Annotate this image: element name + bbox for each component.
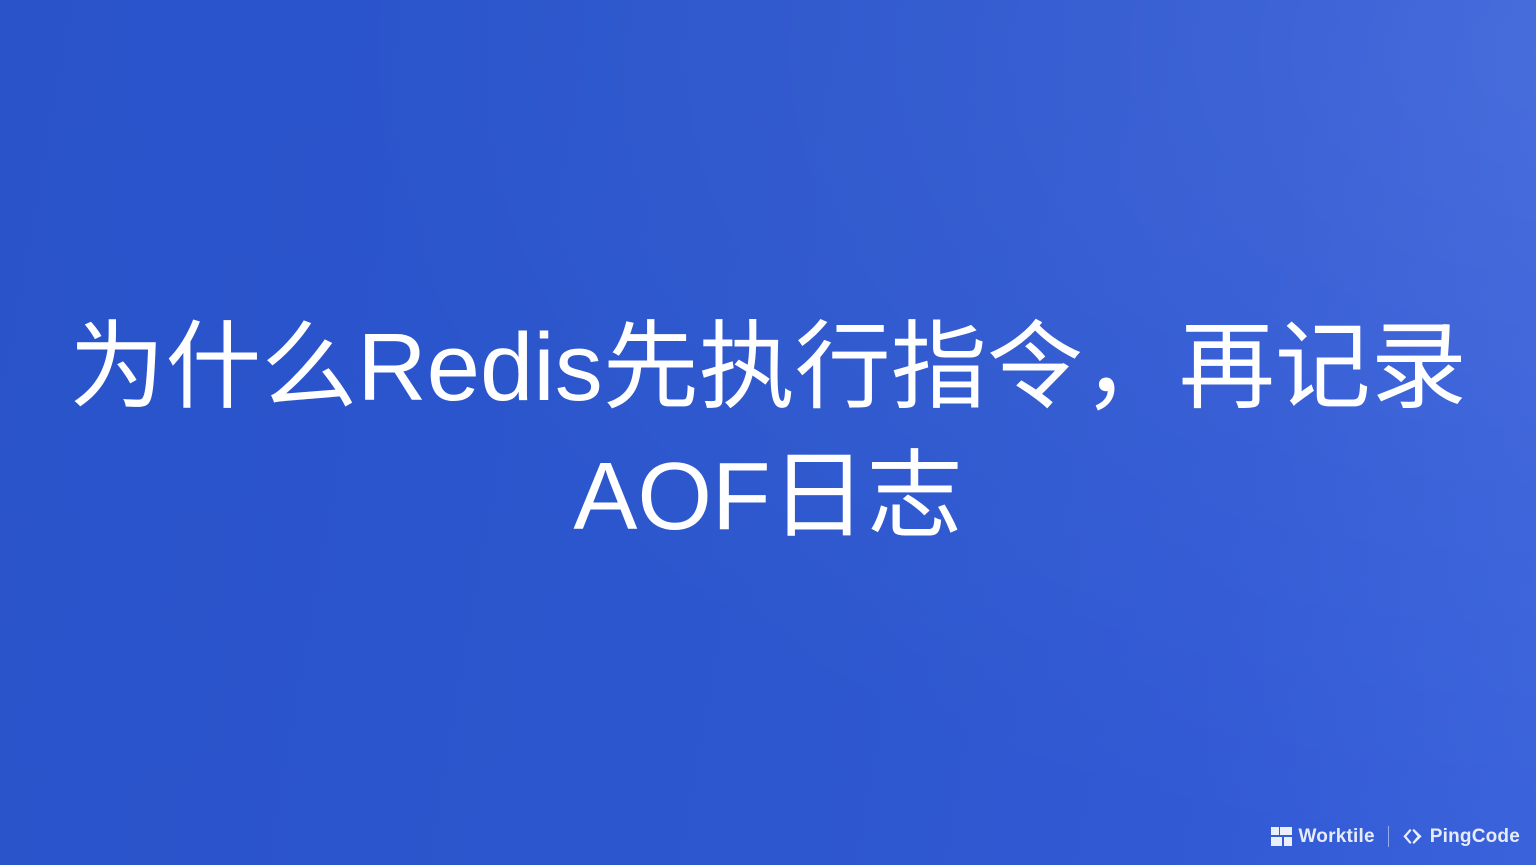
worktile-logo[interactable]: Worktile xyxy=(1271,827,1375,846)
title-slide: 为什么Redis先执行指令，再记录AOF日志 Worktile PingCode xyxy=(0,0,1536,865)
grid-blocks-icon xyxy=(1271,827,1292,846)
worktile-wordmark: Worktile xyxy=(1299,827,1375,846)
branding-bar: Worktile PingCode xyxy=(1271,826,1520,847)
brand-divider xyxy=(1388,826,1389,847)
title-container: 为什么Redis先执行指令，再记录AOF日志 xyxy=(0,0,1536,865)
page-title: 为什么Redis先执行指令，再记录AOF日志 xyxy=(34,304,1502,561)
code-chevrons-icon xyxy=(1402,827,1423,846)
pingcode-wordmark: PingCode xyxy=(1430,827,1520,846)
pingcode-logo[interactable]: PingCode xyxy=(1402,827,1520,846)
